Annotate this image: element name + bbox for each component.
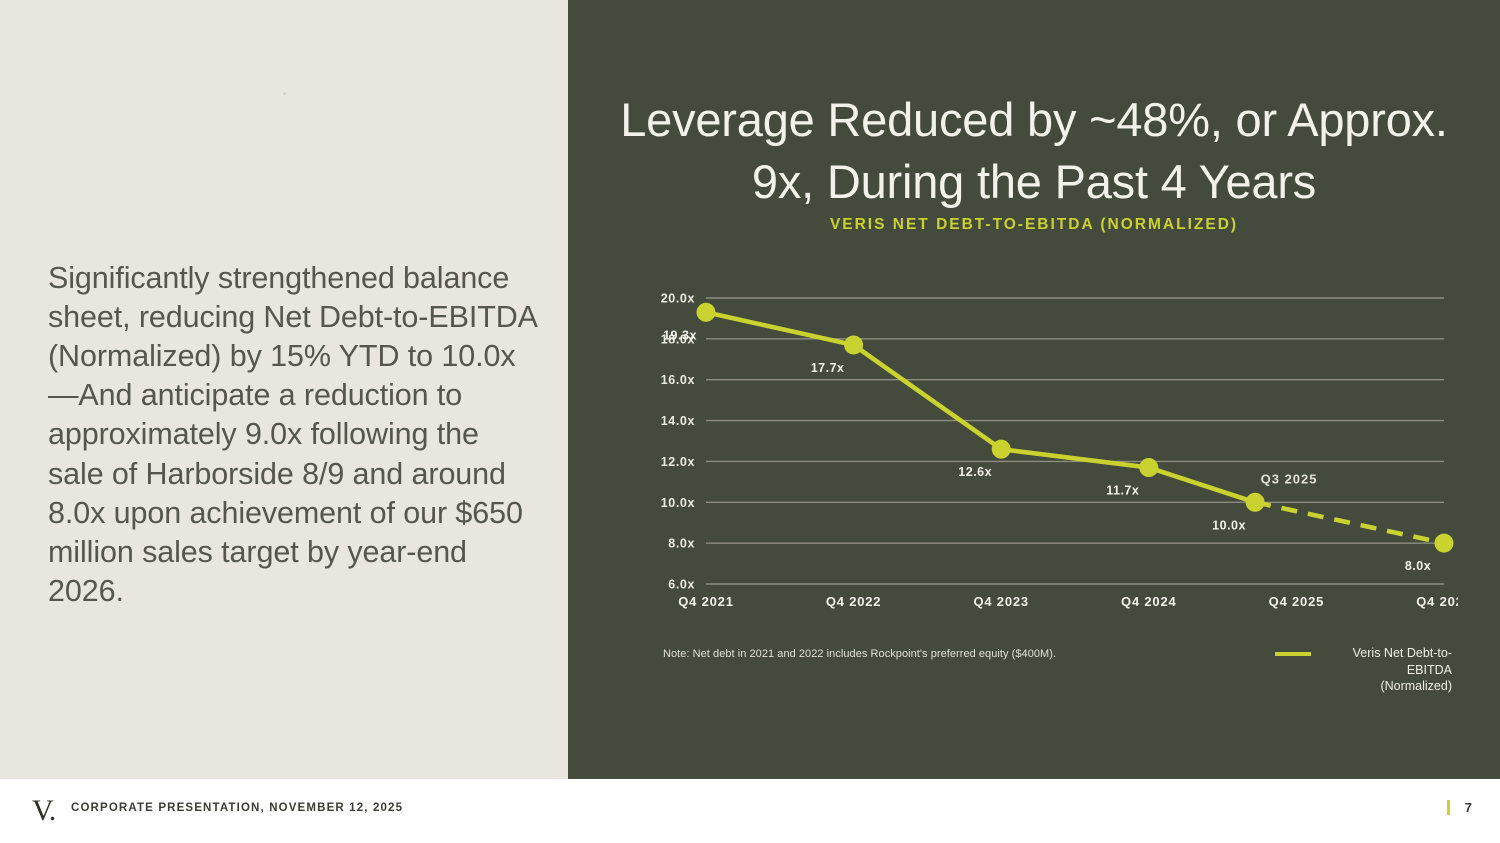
series-line	[1149, 468, 1255, 503]
legend-label-line2: (Normalized)	[1380, 679, 1452, 693]
chart-note: Note: Net debt in 2021 and 2022 includes…	[663, 648, 1056, 660]
series-line-projected	[1255, 502, 1444, 543]
data-point-label: 10.0x	[1212, 518, 1246, 532]
legend-label: Veris Net Debt-to-EBITDA (Normalized)	[1320, 645, 1452, 695]
data-point-label: 11.7x	[1106, 484, 1139, 498]
x-axis-tick-label: Q4 2021	[678, 594, 733, 609]
x-axis-tick-label: Q4 2022	[826, 594, 881, 609]
chart-svg: 20.0x18.0x16.0x14.0x12.0x10.0x8.0x6.0xQ4…	[658, 282, 1458, 612]
data-point-label: 17.7x	[811, 361, 845, 375]
y-axis-tick-label: 14.0x	[661, 414, 695, 428]
chart-subtitle: VERIS NET DEBT-TO-EBITDA (NORMALIZED)	[608, 216, 1460, 234]
data-point-annotation: Q3 2025	[1261, 471, 1318, 486]
page-number: 7	[1465, 800, 1472, 815]
legend-swatch-icon	[1275, 652, 1311, 656]
y-axis-tick-label: 16.0x	[661, 373, 695, 387]
y-axis-tick-label: 10.0x	[661, 496, 695, 510]
line-chart: 20.0x18.0x16.0x14.0x12.0x10.0x8.0x6.0xQ4…	[658, 282, 1458, 612]
page-title: Leverage Reduced by ~48%, or Approx. 9x,…	[608, 89, 1460, 213]
series-line	[706, 312, 854, 345]
footer: V. CORPORATE PRESENTATION, NOVEMBER 12, …	[0, 779, 1500, 843]
x-axis-tick-label: Q4 2023	[973, 594, 1028, 609]
legend-label-line1: Veris Net Debt-to-EBITDA	[1353, 646, 1452, 677]
data-point-marker	[844, 335, 863, 354]
series-line	[1001, 449, 1149, 467]
data-point-label: 12.6x	[958, 465, 992, 479]
y-axis-tick-label: 20.0x	[661, 292, 695, 306]
data-point-label: 8.0x	[1405, 559, 1431, 573]
veris-logo: V.	[32, 794, 55, 828]
page-number-tick-icon	[1447, 800, 1450, 815]
data-point-marker	[1435, 534, 1454, 553]
data-point-marker	[992, 440, 1011, 459]
y-axis-tick-label: 12.0x	[661, 455, 695, 469]
data-point-marker	[1139, 458, 1158, 477]
decorative-speck	[283, 92, 286, 95]
data-point-marker	[697, 303, 716, 322]
x-axis-tick-label: Q4 2024	[1121, 594, 1176, 609]
x-axis-tick-label: Q4 2026	[1416, 594, 1458, 609]
data-point-marker	[1246, 493, 1265, 512]
x-axis-tick-label: Q4 2025	[1269, 594, 1324, 609]
footer-text: CORPORATE PRESENTATION, NOVEMBER 12, 202…	[71, 802, 403, 814]
y-axis-tick-label: 6.0x	[668, 578, 695, 592]
y-axis-tick-label: 8.0x	[668, 537, 695, 551]
body-copy: Significantly strengthened balance sheet…	[48, 259, 538, 612]
slide: Significantly strengthened balance sheet…	[0, 0, 1500, 779]
left-content-panel: Significantly strengthened balance sheet…	[0, 0, 568, 779]
data-point-label: 19.3x	[663, 328, 697, 342]
series-line	[854, 345, 1002, 449]
chart-legend: Veris Net Debt-to-EBITDA (Normalized)	[1275, 645, 1452, 695]
right-chart-panel: Leverage Reduced by ~48%, or Approx. 9x,…	[568, 0, 1500, 779]
